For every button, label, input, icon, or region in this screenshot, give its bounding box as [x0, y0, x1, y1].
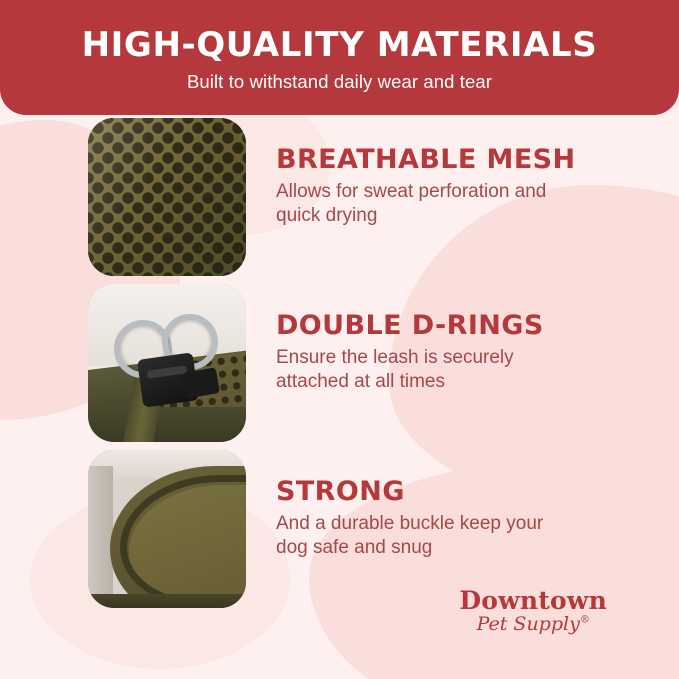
lower-strap — [88, 407, 246, 442]
feature-text: STRONG And a durable buckle keep your do… — [246, 450, 576, 561]
page-subtitle: Built to withstand daily wear and tear — [0, 71, 679, 93]
feature-list: BREATHABLE MESH Allows for sweat perfora… — [0, 118, 679, 616]
pad-bottom-edge — [88, 594, 246, 608]
d-ring-scene — [88, 284, 246, 442]
feature-title: STRONG — [276, 478, 576, 505]
registered-trademark-icon: ® — [580, 615, 590, 626]
page-title: HIGH-QUALITY MATERIALS — [0, 28, 679, 64]
feature-description: Allows for sweat perforation and quick d… — [276, 180, 576, 229]
mesh-fabric-photo — [88, 118, 246, 276]
feature-item: DOUBLE D-RINGS Ensure the leash is secur… — [0, 284, 679, 442]
feature-description: Ensure the leash is securely attached at… — [276, 346, 576, 395]
mesh-highlight — [88, 118, 246, 276]
feature-title: BREATHABLE MESH — [276, 146, 576, 173]
feature-title: DOUBLE D-RINGS — [276, 312, 576, 339]
feature-description: And a durable buckle keep your dog safe … — [276, 512, 576, 561]
padded-buckle-photo — [88, 450, 246, 608]
brand-name-text: Pet Supply — [477, 613, 580, 635]
feature-item: BREATHABLE MESH Allows for sweat perfora… — [0, 118, 679, 276]
feature-item: STRONG And a durable buckle keep your do… — [0, 450, 679, 608]
pad-scene — [88, 450, 246, 608]
product-infographic: HIGH-QUALITY MATERIALS Built to withstan… — [0, 0, 679, 679]
d-rings-buckle-photo — [88, 284, 246, 442]
brand-name-line2: Pet Supply® — [459, 613, 607, 635]
feature-text: DOUBLE D-RINGS Ensure the leash is secur… — [246, 284, 576, 395]
pad-left-edge — [88, 466, 113, 608]
feature-text: BREATHABLE MESH Allows for sweat perfora… — [246, 118, 576, 229]
header-banner: HIGH-QUALITY MATERIALS Built to withstan… — [0, 0, 679, 115]
brand-name-line1: Downtown — [459, 586, 607, 615]
brand-logo: Downtown Pet Supply® — [459, 586, 607, 635]
